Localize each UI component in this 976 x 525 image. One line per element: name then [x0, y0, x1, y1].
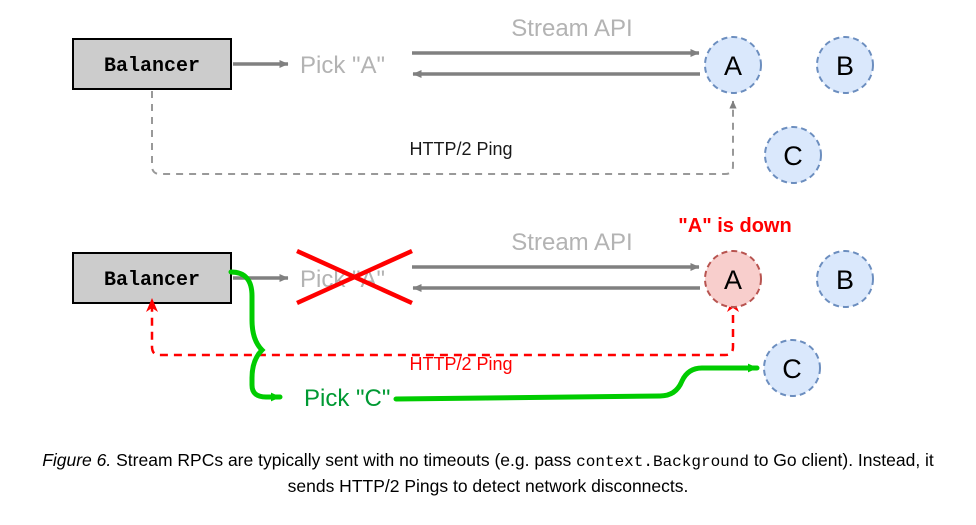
top-node-a[interactable]: A [705, 37, 761, 93]
bottom-node-b[interactable]: B [817, 251, 873, 307]
top-node-b-label: B [836, 51, 854, 81]
top-node-a-label: A [724, 51, 742, 81]
top-node-c[interactable]: C [765, 127, 821, 183]
node-a-down-status-label: "A" is down [678, 215, 791, 237]
top-balancer-box[interactable]: Balancer [73, 39, 231, 89]
top-node-b[interactable]: B [817, 37, 873, 93]
top-diagram-group: Balancer Pick "A" Stream API HTTP/2 Ping… [73, 15, 873, 183]
top-node-c-label: C [783, 141, 803, 171]
figure-number: Figure 6. [42, 450, 111, 470]
pick-c-selection-curve [231, 272, 280, 397]
bottom-node-a-label: A [724, 265, 742, 295]
bottom-stream-api-label: Stream API [511, 229, 632, 256]
figure-caption: Figure 6. Stream RPCs are typically sent… [18, 448, 958, 500]
bottom-node-b-label: B [836, 265, 854, 295]
bottom-node-a[interactable]: A [705, 251, 761, 307]
bottom-balancer-label: Balancer [104, 269, 200, 292]
top-http2-ping-label: HTTP/2 Ping [409, 139, 512, 159]
bottom-node-c-label: C [782, 354, 802, 384]
bottom-diagram-group: Balancer Pick "A" Stream API HTT [73, 215, 873, 412]
bottom-balancer-box[interactable]: Balancer [73, 253, 231, 303]
top-balancer-label: Balancer [104, 55, 200, 78]
bottom-http2-ping-path [152, 305, 733, 355]
caption-code-snippet: context.Background [576, 453, 749, 471]
caption-text-part-1: Stream RPCs are typically sent with no t… [111, 450, 576, 470]
bottom-http2-ping-label: HTTP/2 Ping [409, 354, 512, 374]
diagram-canvas: Balancer Pick "A" Stream API HTTP/2 Ping… [0, 0, 976, 440]
figure-container: Balancer Pick "A" Stream API HTTP/2 Ping… [0, 0, 976, 525]
top-stream-api-label: Stream API [511, 15, 632, 42]
top-http2-ping-path [152, 91, 733, 174]
bottom-pick-c-label: Pick "C" [304, 385, 390, 412]
bottom-node-c[interactable]: C [764, 340, 820, 396]
top-pick-a-label: Pick "A" [300, 52, 385, 79]
